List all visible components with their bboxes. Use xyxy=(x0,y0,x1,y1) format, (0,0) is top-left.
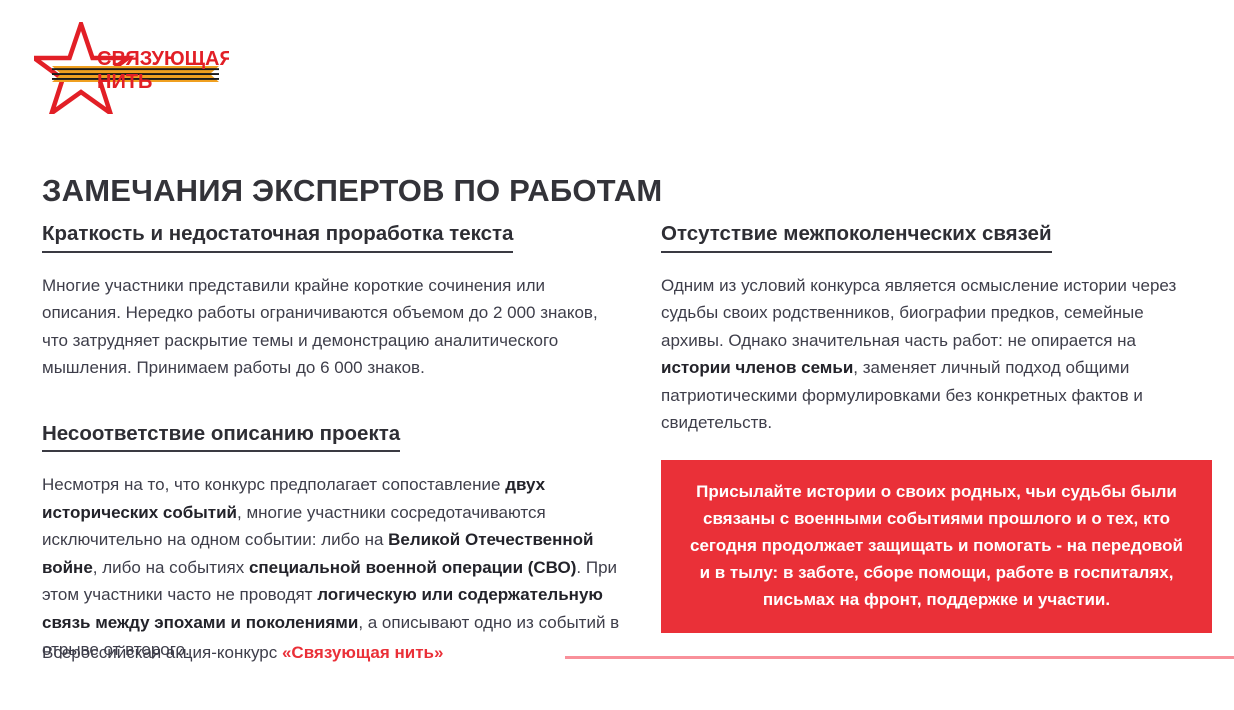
section-body-brevity: Многие участники представили крайне коро… xyxy=(42,272,622,382)
left-column: Краткость и недостаточная проработка тек… xyxy=(42,222,622,681)
red-callout-box: Присылайте истории о своих родных, чьи с… xyxy=(661,460,1212,633)
right-column: Отсутствие межпоколенческих связей Одним… xyxy=(661,222,1206,454)
footer-prefix: Всероссийская акция-конкурс xyxy=(42,643,282,662)
callout-text: Присылайте истории о своих родных, чьи с… xyxy=(661,479,1212,613)
footer-divider xyxy=(565,656,1234,659)
footer-caption: Всероссийская акция-конкурс «Связующая н… xyxy=(42,643,443,663)
section-body-project-mismatch: Несмотря на то, что конкурс предполагает… xyxy=(42,471,622,664)
logo-line2: НИТЬ xyxy=(97,71,152,93)
section-heading-brevity: Краткость и недостаточная проработка тек… xyxy=(42,222,513,253)
page-title: ЗАМЕЧАНИЯ ЭКСПЕРТОВ ПО РАБОТАМ xyxy=(42,173,662,209)
section-body-generational-links: Одним из условий конкурса является осмыс… xyxy=(661,272,1206,437)
section-heading-generational-links: Отсутствие межпоколенческих связей xyxy=(661,222,1052,253)
footer-brand: «Связующая нить» xyxy=(282,643,443,662)
logo-line1: СВЯЗУЮЩАЯ xyxy=(97,48,229,70)
svyazuyushchaya-nit-logo: СВЯЗУЮЩАЯ НИТЬ xyxy=(34,22,229,114)
section-heading-project-mismatch: Несоответствие описанию проекта xyxy=(42,422,400,453)
